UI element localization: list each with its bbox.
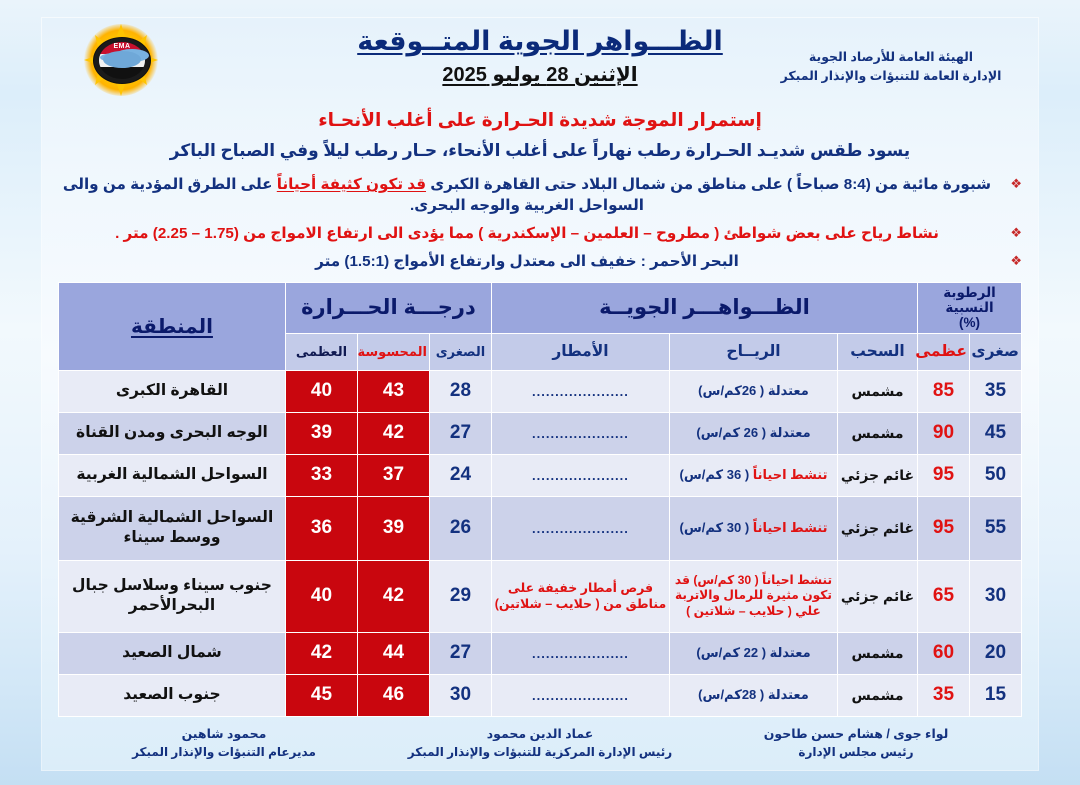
- wind-speed-text: معتدلة ( 28كم/س): [698, 687, 809, 702]
- signature-chairman: لواء جوى / هشام حسن طاحون رئيس مجلس الإد…: [698, 725, 1014, 762]
- wind-speed-text: معتدلة ( 26 كم/س): [696, 425, 810, 440]
- cell-humidity-max: 35: [918, 674, 970, 716]
- subheader-wind: الريــاح: [670, 333, 838, 370]
- cell-temp-min: 27: [429, 412, 491, 454]
- cell-temp-max: 36: [285, 496, 357, 560]
- agency-line-2: الإدارة العامة للتنبؤات والإنذار المبكر: [766, 67, 1016, 86]
- forecast-director-name: محمود شاهين: [66, 725, 382, 744]
- header-humidity-label: الرطوبة النسبية: [920, 285, 1019, 315]
- cell-temp-max: 40: [285, 560, 357, 632]
- cell-humidity-min: 50: [970, 454, 1022, 496]
- header-region: المنطقة: [59, 283, 286, 370]
- bullet-item-red-sea: ❖ البحر الأحمر : خفيف الى معتدل وارتفاع …: [56, 251, 1024, 273]
- cell-temp-feel: 43: [357, 370, 429, 412]
- subheader-humidity-max: عظمى: [918, 333, 970, 370]
- cell-region: السواحل الشمالية الشرقية ووسط سيناء: [59, 496, 286, 560]
- wind-alert-text: تنشط احياناً: [749, 520, 827, 535]
- cell-region: القاهرة الكبرى: [59, 370, 286, 412]
- cell-temp-feel: 46: [357, 674, 429, 716]
- cell-clouds: غائم جزئي: [838, 560, 918, 632]
- cell-humidity-min: 30: [970, 560, 1022, 632]
- cell-temp-min: 28: [429, 370, 491, 412]
- cell-clouds: غائم جزئي: [838, 454, 918, 496]
- subheader-clouds: السحب: [838, 333, 918, 370]
- subheader-temp-feel: المحسوسة: [357, 333, 429, 370]
- wind-alert-text: تنشط احياناً: [749, 467, 827, 482]
- table-row: 2060مشمسمعتدلة ( 22 كم/س)...............…: [59, 632, 1022, 674]
- agency-identification: الهيئة العامة للأرصاد الجوية الإدارة الع…: [766, 48, 1016, 87]
- table-row: 5095غائم جزئيتنشط احياناً ( 36 كم/س)....…: [59, 454, 1022, 496]
- wind-speed-text: ( 30 كم/س): [679, 520, 749, 535]
- cell-rain: .....................: [491, 370, 669, 412]
- subheader-temp-min: الصغرى: [429, 333, 491, 370]
- bullet-item-fog: ❖ شبورة مائية من (8:4 صباحاً ) على مناطق…: [56, 174, 1024, 217]
- cell-temp-feel: 42: [357, 412, 429, 454]
- central-head-name: عماد الدين محمود: [382, 725, 698, 744]
- cell-clouds: مشمس: [838, 412, 918, 454]
- table-row: 5595غائم جزئيتنشط احياناً ( 30 كم/س)....…: [59, 496, 1022, 560]
- cell-humidity-max: 95: [918, 496, 970, 560]
- table-row: 4590مشمسمعتدلة ( 26 كم/س)...............…: [59, 412, 1022, 454]
- cell-region: السواحل الشمالية الغربية: [59, 454, 286, 496]
- cell-humidity-min: 45: [970, 412, 1022, 454]
- cell-humidity-min: 20: [970, 632, 1022, 674]
- header-humidity-group: الرطوبة النسبية (%): [918, 283, 1022, 333]
- cell-region: جنوب سيناء وسلاسل جبال البحرالأحمر: [59, 560, 286, 632]
- diamond-bullet-icon: ❖: [1010, 252, 1022, 270]
- table-row: 3065غائم جزئيتنشط احياناً ( 30 كم/س) قد …: [59, 560, 1022, 632]
- forecast-table-wrapper: الرطوبة النسبية (%) الظـــواهـــر الجويـ…: [58, 282, 1022, 716]
- cell-temp-min: 29: [429, 560, 491, 632]
- diamond-bullet-icon: ❖: [1010, 224, 1022, 242]
- bullet-red-sea-text: البحر الأحمر : خفيف الى معتدل وارتفاع ال…: [315, 253, 739, 270]
- header-phenomena-group: الظـــواهـــر الجويــة: [491, 283, 917, 333]
- cell-temp-max: 33: [285, 454, 357, 496]
- chairman-name: لواء جوى / هشام حسن طاحون: [698, 725, 1014, 744]
- cell-wind: تنشط احياناً ( 30 كم/س): [670, 496, 838, 560]
- cell-humidity-max: 95: [918, 454, 970, 496]
- table-row: 1535مشمسمعتدلة ( 28كم/س)................…: [59, 674, 1022, 716]
- cell-humidity-max: 85: [918, 370, 970, 412]
- cell-clouds: مشمس: [838, 632, 918, 674]
- bullet-waves-text: نشاط رياح على بعض شواطئ ( مطروح – العلمي…: [115, 225, 939, 242]
- signature-forecast-director: محمود شاهين مديرعام التنبؤات والإنذار ال…: [66, 725, 382, 762]
- header-humidity-unit: (%): [920, 315, 1019, 330]
- cell-region: شمال الصعيد: [59, 632, 286, 674]
- cell-humidity-max: 90: [918, 412, 970, 454]
- cell-humidity-min: 35: [970, 370, 1022, 412]
- cell-wind: معتدلة ( 28كم/س): [670, 674, 838, 716]
- forecast-page: EMA الظـــواهر الجوية المتــوقعة الإثنين…: [0, 0, 1080, 785]
- wind-speed-text: ( 36 كم/س): [679, 467, 749, 482]
- cell-wind: معتدلة ( 22 كم/س): [670, 632, 838, 674]
- bullet-fog-emphasis: قد تكون كثيفة أحياناً: [277, 176, 426, 193]
- cell-temp-min: 30: [429, 674, 491, 716]
- cell-humidity-max: 65: [918, 560, 970, 632]
- headline-block: إستمرار الموجة شديدة الحـرارة على أغلب ا…: [42, 108, 1038, 163]
- footer-signatures: لواء جوى / هشام حسن طاحون رئيس مجلس الإد…: [66, 725, 1014, 762]
- cell-rain: .....................: [491, 632, 669, 674]
- cell-wind: تنشط احياناً ( 30 كم/س) قد تكون مثيرة لل…: [670, 560, 838, 632]
- cell-clouds: غائم جزئي: [838, 496, 918, 560]
- cell-humidity-max: 60: [918, 632, 970, 674]
- bullet-list: ❖ شبورة مائية من (8:4 صباحاً ) على مناطق…: [56, 174, 1024, 272]
- cell-rain: .....................: [491, 412, 669, 454]
- forecast-director-title: مديرعام التنبؤات والإنذار المبكر: [66, 743, 382, 761]
- cell-clouds: مشمس: [838, 674, 918, 716]
- headline-primary: إستمرار الموجة شديدة الحـرارة على أغلب ا…: [42, 108, 1038, 133]
- cell-wind: معتدلة ( 26كم/س): [670, 370, 838, 412]
- wind-speed-text: معتدلة ( 26كم/س): [698, 383, 809, 398]
- bullet-item-waves: ❖ نشاط رياح على بعض شواطئ ( مطروح – العل…: [56, 223, 1024, 245]
- headline-secondary: يسود طقس شديـد الحـرارة رطب نهاراً على أ…: [42, 140, 1038, 163]
- agency-line-1: الهيئة العامة للأرصاد الجوية: [766, 48, 1016, 67]
- cell-rain: فرص أمطار خفيفة على مناطق من ( حلايب – ش…: [491, 560, 669, 632]
- diamond-bullet-icon: ❖: [1010, 175, 1022, 193]
- header-temperature-group: درجـــة الحـــرارة: [285, 283, 491, 333]
- cell-temp-min: 27: [429, 632, 491, 674]
- cell-rain: .....................: [491, 674, 669, 716]
- cell-rain: .....................: [491, 454, 669, 496]
- cell-temp-max: 39: [285, 412, 357, 454]
- header: EMA الظـــواهر الجوية المتــوقعة الإثنين…: [42, 18, 1038, 106]
- central-head-title: رئيس الإدارة المركزية للتنبؤات والإنذار …: [382, 743, 698, 761]
- cell-temp-feel: 39: [357, 496, 429, 560]
- signature-central-head: عماد الدين محمود رئيس الإدارة المركزية ل…: [382, 725, 698, 762]
- table-body: 3585مشمسمعتدلة ( 26كم/س)................…: [59, 370, 1022, 716]
- table-group-header-row: الرطوبة النسبية (%) الظـــواهـــر الجويـ…: [59, 283, 1022, 333]
- cell-wind: معتدلة ( 26 كم/س): [670, 412, 838, 454]
- subheader-rain: الأمطار: [491, 333, 669, 370]
- cell-region: الوجه البحرى ومدن القناة: [59, 412, 286, 454]
- cell-temp-min: 26: [429, 496, 491, 560]
- cell-temp-max: 40: [285, 370, 357, 412]
- cell-rain: .....................: [491, 496, 669, 560]
- table-row: 3585مشمسمعتدلة ( 26كم/س)................…: [59, 370, 1022, 412]
- forecast-table: الرطوبة النسبية (%) الظـــواهـــر الجويـ…: [58, 282, 1022, 716]
- bulletin-card: EMA الظـــواهر الجوية المتــوقعة الإثنين…: [42, 18, 1038, 770]
- cell-temp-max: 42: [285, 632, 357, 674]
- bullet-fog-part1: شبورة مائية من (8:4 صباحاً ) على مناطق م…: [426, 176, 991, 193]
- cell-temp-feel: 37: [357, 454, 429, 496]
- cell-temp-min: 24: [429, 454, 491, 496]
- subheader-temp-max: العظمى: [285, 333, 357, 370]
- cell-temp-feel: 44: [357, 632, 429, 674]
- cell-region: جنوب الصعيد: [59, 674, 286, 716]
- cell-humidity-min: 15: [970, 674, 1022, 716]
- cell-humidity-min: 55: [970, 496, 1022, 560]
- cell-wind: تنشط احياناً ( 36 كم/س): [670, 454, 838, 496]
- subheader-humidity-min: صغرى: [970, 333, 1022, 370]
- cell-temp-max: 45: [285, 674, 357, 716]
- chairman-title: رئيس مجلس الإدارة: [698, 743, 1014, 761]
- cell-temp-feel: 42: [357, 560, 429, 632]
- wind-speed-text: معتدلة ( 22 كم/س): [696, 645, 810, 660]
- cell-clouds: مشمس: [838, 370, 918, 412]
